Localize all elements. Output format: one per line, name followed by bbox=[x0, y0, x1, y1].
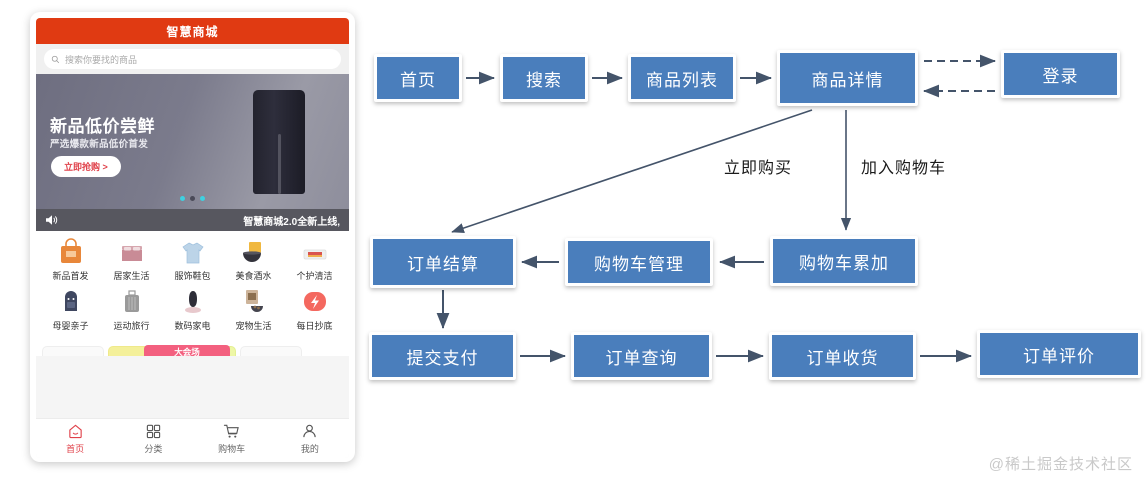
node-label: 首页 bbox=[400, 66, 436, 91]
node-login[interactable]: 登录 bbox=[1001, 50, 1120, 98]
node-cart-manage[interactable]: 购物车管理 bbox=[565, 238, 713, 286]
node-label: 商品列表 bbox=[646, 66, 718, 91]
node-label: 搜索 bbox=[526, 66, 562, 91]
node-submit-pay[interactable]: 提交支付 bbox=[369, 332, 516, 380]
node-home[interactable]: 首页 bbox=[374, 54, 462, 102]
screenshot-root: 智慧商城 搜索你要找的商品 新品低价尝鲜 严选爆款新品低价首发 立即抢购 > bbox=[0, 0, 1147, 486]
edge-label-add-to-cart: 加入购物车 bbox=[861, 154, 946, 178]
watermark: @稀土掘金技术社区 bbox=[989, 453, 1133, 474]
node-goods-list[interactable]: 商品列表 bbox=[628, 54, 736, 102]
node-label: 购物车累加 bbox=[799, 249, 889, 274]
node-label: 商品详情 bbox=[812, 66, 884, 91]
node-goods-detail[interactable]: 商品详情 bbox=[777, 50, 918, 106]
node-label: 登录 bbox=[1043, 62, 1079, 87]
edge-label-buy-now: 立即购买 bbox=[724, 154, 792, 178]
node-label: 购物车管理 bbox=[594, 250, 684, 275]
node-label: 订单评价 bbox=[1023, 342, 1095, 367]
node-label: 订单结算 bbox=[407, 250, 479, 275]
node-order-receive[interactable]: 订单收货 bbox=[769, 332, 916, 380]
node-cart-add[interactable]: 购物车累加 bbox=[770, 236, 918, 286]
node-label: 订单收货 bbox=[807, 344, 879, 369]
node-label: 订单查询 bbox=[606, 344, 678, 369]
node-order-settle[interactable]: 订单结算 bbox=[370, 236, 516, 288]
node-search[interactable]: 搜索 bbox=[500, 54, 588, 102]
node-order-query[interactable]: 订单查询 bbox=[571, 332, 712, 380]
node-order-eval[interactable]: 订单评价 bbox=[977, 330, 1141, 378]
node-label: 提交支付 bbox=[407, 344, 479, 369]
flowchart: 首页 搜索 商品列表 商品详情 登录 订单结算 购物车管理 购物车累加 提交支付… bbox=[0, 0, 1147, 486]
